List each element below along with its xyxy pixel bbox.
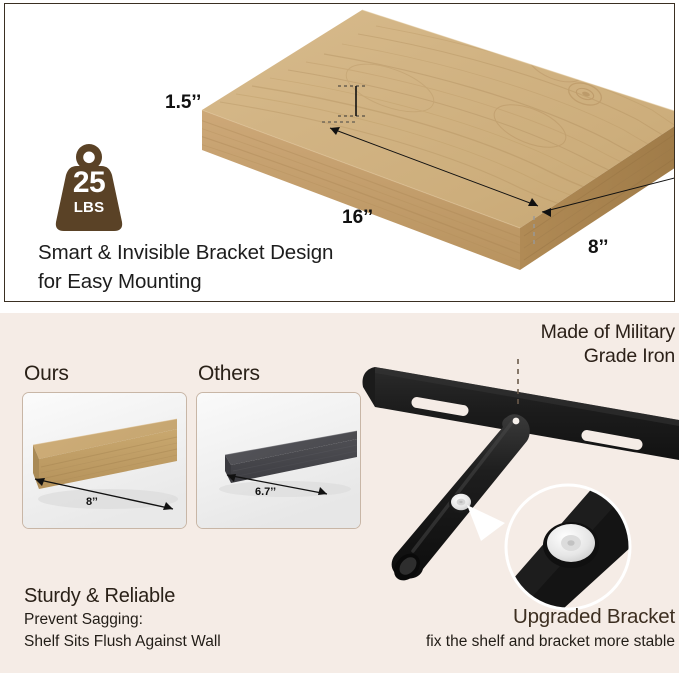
military-grade-label-line1: Made of Military [430, 320, 675, 344]
comparison-photo-others: 6.7’’ [196, 392, 361, 529]
dimension-label-depth: 8’’ [588, 237, 608, 259]
weight-unit: LBS [52, 200, 126, 215]
upgraded-bracket-label: Upgraded Bracket [330, 605, 675, 629]
military-grade-label: Made of Military Grade Iron [430, 320, 675, 369]
comparison-title-others: Others [198, 362, 260, 386]
weight-capacity-badge: 25 LBS [52, 142, 126, 234]
dimension-label-thickness: 1.5’’ [165, 92, 201, 114]
top-headline-line1: Smart & Invisible Bracket Design [38, 238, 458, 267]
bracket-illustration [355, 355, 679, 620]
infographic-stage: 1.5’’ 16’’ 8’’ 25 LBS Smart & Invisible … [0, 0, 679, 673]
top-panel: 1.5’’ 16’’ 8’’ 25 LBS Smart & Invisible … [4, 3, 675, 302]
top-headline: Smart & Invisible Bracket Design for Eas… [38, 238, 458, 296]
top-headline-line2: for Easy Mounting [38, 267, 458, 296]
military-grade-label-line2: Grade Iron [430, 344, 675, 368]
sturdy-subtext: Prevent Sagging: Shelf Sits Flush Agains… [24, 609, 221, 653]
weight-value: 25 [52, 168, 126, 198]
upgraded-bracket-subtext: fix the shelf and bracket more stable [300, 633, 675, 651]
sturdy-subtext-line2: Shelf Sits Flush Against Wall [24, 631, 221, 653]
comparison-title-ours: Ours [24, 362, 69, 386]
ours-dimension-label: 8’’ [86, 496, 98, 508]
comparison-photo-ours: 8’’ [22, 392, 187, 529]
sturdy-heading: Sturdy & Reliable [24, 585, 175, 608]
sturdy-subtext-line1: Prevent Sagging: [24, 609, 221, 631]
others-dimension-label: 6.7’’ [255, 486, 276, 498]
dimension-label-length: 16’’ [342, 207, 373, 229]
